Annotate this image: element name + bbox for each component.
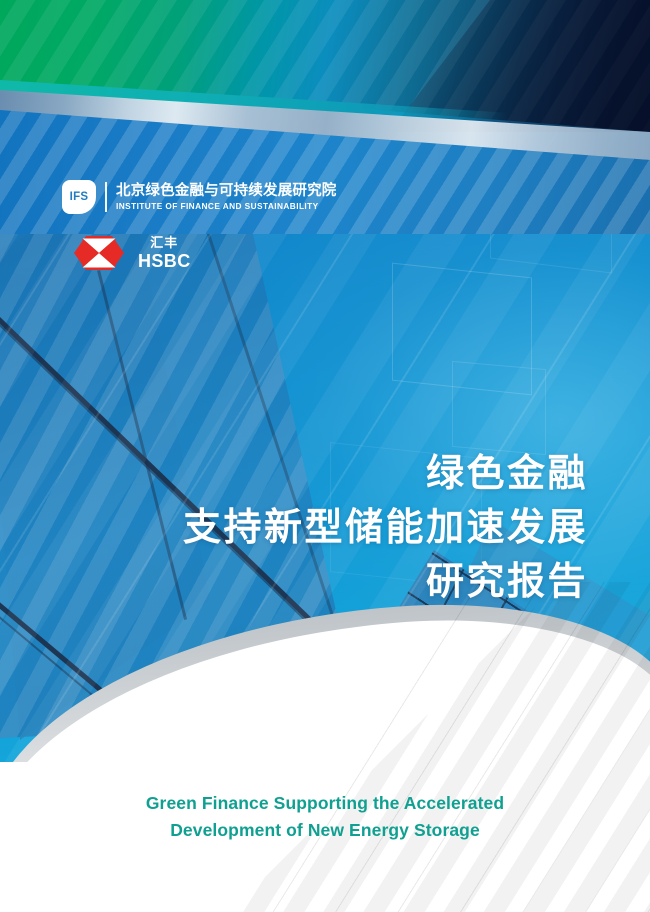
hsbc-name-en: HSBC bbox=[138, 252, 191, 270]
subtitle-line-1: Green Finance Supporting the Accelerated bbox=[0, 790, 650, 817]
title-line-2: 支持新型储能加速发展 bbox=[183, 502, 588, 556]
subtitle-line-2: Development of New Energy Storage bbox=[0, 817, 650, 844]
title-line-3: 研究报告 bbox=[183, 556, 588, 610]
ifs-logo-text: IFS bbox=[70, 191, 89, 203]
ifs-name-block: 北京绿色金融与可持续发展研究院 INSTITUTE OF FINANCE AND… bbox=[116, 184, 337, 210]
hsbc-name-cn: 汇丰 bbox=[138, 236, 191, 249]
logo-lockup: IFS 北京绿色金融与可持续发展研究院 INSTITUTE OF FINANCE… bbox=[62, 180, 337, 270]
ifs-organization-logo: IFS 北京绿色金融与可持续发展研究院 INSTITUTE OF FINANCE… bbox=[62, 180, 337, 214]
report-subtitle-en: Green Finance Supporting the Accelerated… bbox=[0, 790, 650, 843]
ifs-leaf-logo-icon: IFS bbox=[62, 180, 96, 214]
logo-divider bbox=[105, 182, 107, 212]
hsbc-hexagon-logo-icon bbox=[74, 236, 124, 270]
report-title-cn: 绿色金融 支持新型储能加速发展 研究报告 bbox=[183, 448, 588, 610]
ifs-name-en: INSTITUTE OF FINANCE AND SUSTAINABILITY bbox=[116, 202, 337, 210]
hsbc-name-block: 汇丰 HSBC bbox=[138, 236, 191, 270]
hsbc-organization-logo: 汇丰 HSBC bbox=[74, 236, 337, 270]
report-cover: IFS 北京绿色金融与可持续发展研究院 INSTITUTE OF FINANCE… bbox=[0, 0, 650, 912]
title-line-1: 绿色金融 bbox=[183, 448, 588, 502]
ifs-name-cn: 北京绿色金融与可持续发展研究院 bbox=[116, 184, 337, 199]
